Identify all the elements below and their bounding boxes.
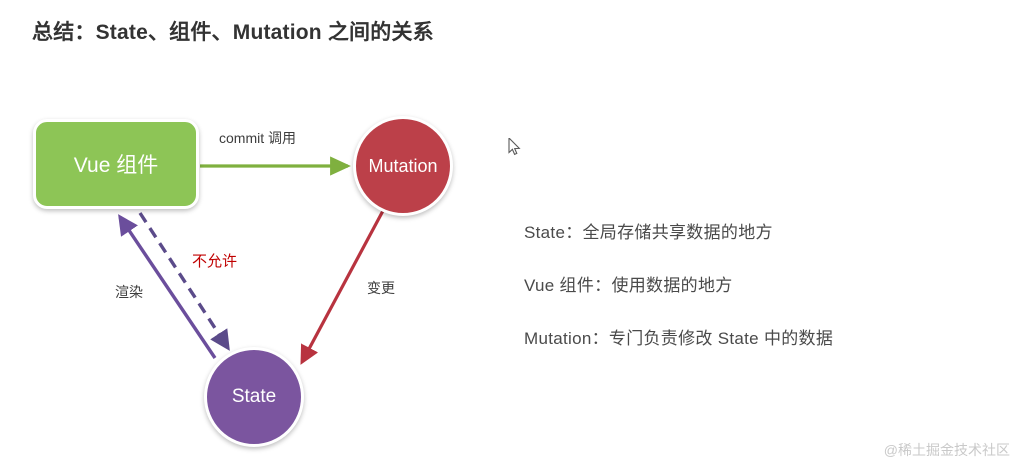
edge-label-forbidden: 不允许 bbox=[192, 250, 237, 271]
page-title: 总结：State、组件、Mutation 之间的关系 bbox=[32, 16, 434, 46]
node-state[interactable]: State bbox=[204, 347, 304, 447]
node-vue-component-label: Vue 组件 bbox=[74, 149, 158, 179]
edge-label-commit: commit 调用 bbox=[219, 128, 296, 148]
node-state-label: State bbox=[232, 386, 276, 408]
mouse-cursor-icon bbox=[508, 138, 522, 156]
edge-forbidden-line bbox=[140, 213, 228, 348]
relationship-diagram: Vue 组件 Mutation State commit 调用 变更 渲染 不允… bbox=[0, 90, 512, 472]
node-mutation[interactable]: Mutation bbox=[353, 116, 453, 216]
legend-item-mutation: Mutation：专门负责修改 State 中的数据 bbox=[524, 324, 994, 349]
node-mutation-label: Mutation bbox=[368, 156, 437, 177]
edge-label-change: 变更 bbox=[367, 278, 395, 298]
watermark: @稀土掘金技术社区 bbox=[884, 440, 1010, 460]
slide-canvas: 总结：State、组件、Mutation 之间的关系 bbox=[0, 0, 1024, 472]
legend-item-state: State：全局存储共享数据的地方 bbox=[524, 218, 994, 243]
node-vue-component[interactable]: Vue 组件 bbox=[33, 119, 199, 209]
edge-label-render: 渲染 bbox=[115, 282, 143, 302]
legend-item-vue-component: Vue 组件：使用数据的地方 bbox=[524, 271, 994, 296]
legend-list: State：全局存储共享数据的地方 Vue 组件：使用数据的地方 Mutatio… bbox=[524, 218, 994, 349]
